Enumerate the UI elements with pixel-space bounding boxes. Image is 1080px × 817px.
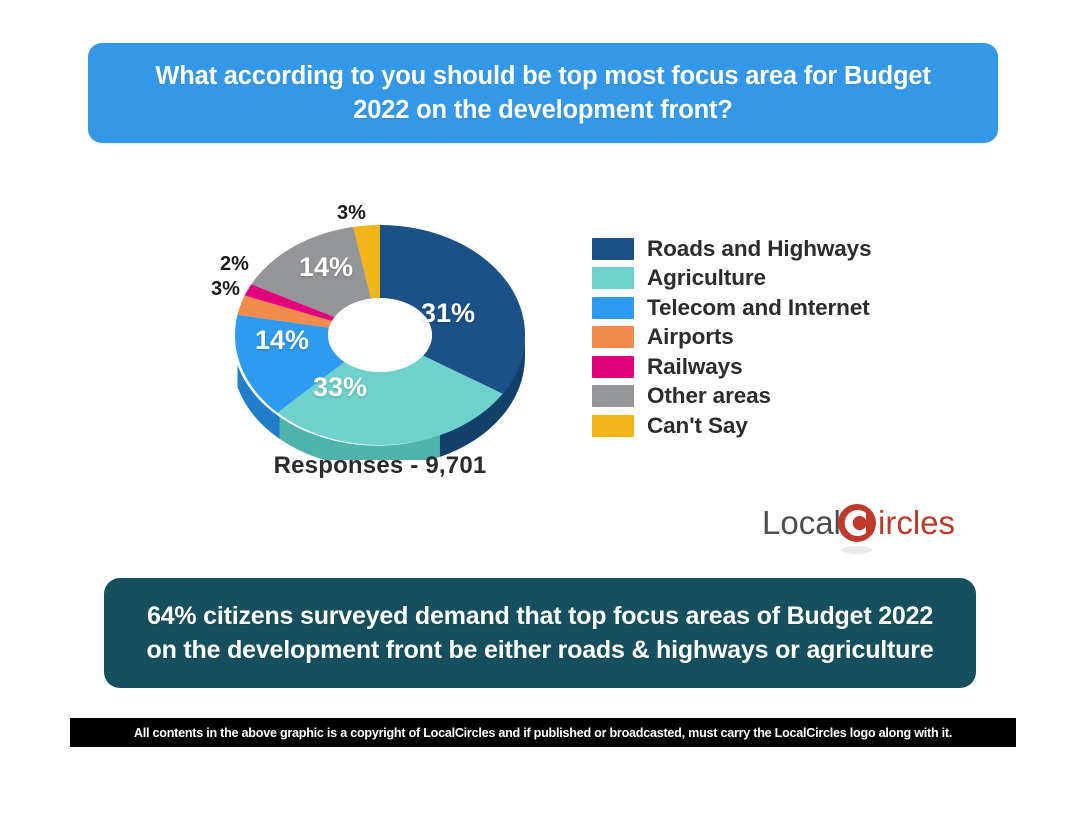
responses-count: Responses - 9,701 <box>195 452 565 480</box>
legend-label: Airports <box>647 324 734 350</box>
pie-chart: 31% 33% 14% 3% 2% 14% 3% Responses - 9,7… <box>195 190 565 490</box>
legend-item-railways: Railways <box>592 352 922 382</box>
question-banner: What according to you should be top most… <box>88 43 998 143</box>
legend-label: Agriculture <box>647 265 766 291</box>
legend-swatch-icon <box>592 385 634 407</box>
legend-label: Telecom and Internet <box>647 295 870 321</box>
legend-swatch-icon <box>592 326 634 348</box>
question-text: What according to you should be top most… <box>134 59 952 127</box>
legend-label: Can't Say <box>647 413 748 439</box>
copyright-strip: All contents in the above graphic is a c… <box>70 718 1016 747</box>
legend-swatch-icon <box>592 267 634 289</box>
legend-label: Railways <box>647 354 743 380</box>
legend-item-agriculture: Agriculture <box>592 264 922 294</box>
legend-swatch-icon <box>592 238 634 260</box>
logo-text-local: Local <box>762 504 841 541</box>
legend-label: Other areas <box>647 383 771 409</box>
legend-item-other-areas: Other areas <box>592 382 922 412</box>
conclusion-text: 64% citizens surveyed demand that top fo… <box>144 599 936 668</box>
logo-text-circles: ircles <box>878 504 955 541</box>
legend-swatch-icon <box>592 297 634 319</box>
legend-item-roads: Roads and Highways <box>592 234 922 264</box>
pie-graphic <box>195 190 565 490</box>
donut-hole <box>328 298 432 372</box>
infographic-canvas: What according to you should be top most… <box>0 0 1080 817</box>
chart-legend: Roads and Highways Agriculture Telecom a… <box>592 234 922 441</box>
map-pin-icon <box>838 504 876 554</box>
conclusion-banner: 64% citizens surveyed demand that top fo… <box>104 578 976 688</box>
pie-svg <box>195 190 565 460</box>
legend-label: Roads and Highways <box>647 236 872 262</box>
localcircles-logo: Local ircles <box>762 500 977 556</box>
legend-swatch-icon <box>592 415 634 437</box>
legend-item-cant-say: Can't Say <box>592 411 922 441</box>
logo-svg: Local ircles <box>762 500 977 556</box>
copyright-text: All contents in the above graphic is a c… <box>134 726 952 740</box>
legend-item-telecom: Telecom and Internet <box>592 293 922 323</box>
legend-item-airports: Airports <box>592 323 922 353</box>
legend-swatch-icon <box>592 356 634 378</box>
